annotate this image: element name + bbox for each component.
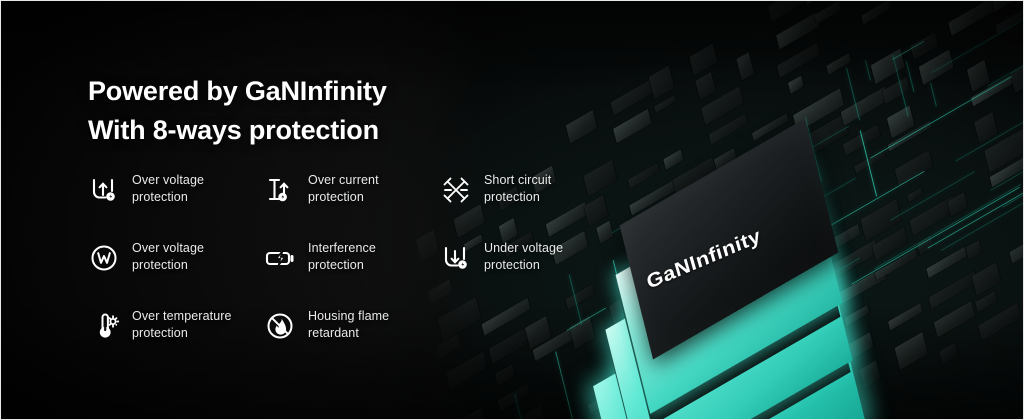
feature-label: Housing flame retardant bbox=[308, 308, 389, 342]
feature-item-over-voltage: Over voltage protection bbox=[88, 172, 264, 240]
heading-line-2: With 8-ways protection bbox=[88, 111, 387, 150]
over-power-icon bbox=[88, 241, 120, 275]
over-temperature-icon bbox=[88, 309, 120, 343]
over-voltage-icon bbox=[88, 173, 120, 207]
feature-item-over-power: Over voltage protection bbox=[88, 240, 264, 308]
gan-protection-banner: GaNInfinity Powered by GaNInfinity With … bbox=[0, 0, 1024, 420]
feature-label: Interference protection bbox=[308, 240, 376, 274]
content-layer: Powered by GaNInfinity With 8-ways prote… bbox=[0, 0, 1024, 420]
feature-label: Short circuit protection bbox=[484, 172, 551, 206]
feature-label: Over voltage protection bbox=[132, 172, 204, 206]
page-title: Powered by GaNInfinity With 8-ways prote… bbox=[88, 72, 387, 150]
feature-item-flame-retardant: Housing flame retardant bbox=[264, 308, 440, 376]
feature-item-over-current: Over current protection bbox=[264, 172, 440, 240]
over-current-icon bbox=[264, 173, 296, 207]
feature-label: Under voltage protection bbox=[484, 240, 563, 274]
feature-item-over-temperature: Over temperature protection bbox=[88, 308, 264, 376]
flame-retardant-icon bbox=[264, 309, 296, 343]
protection-feature-grid: Over voltage protection bbox=[88, 172, 628, 376]
interference-icon bbox=[264, 241, 296, 275]
short-circuit-icon bbox=[440, 173, 472, 207]
feature-label: Over temperature protection bbox=[132, 308, 232, 342]
feature-label: Over current protection bbox=[308, 172, 379, 206]
feature-item-short-circuit: Short circuit protection bbox=[440, 172, 628, 240]
feature-label: Over voltage protection bbox=[132, 240, 204, 274]
feature-item-interference: Interference protection bbox=[264, 240, 440, 308]
under-voltage-icon bbox=[440, 241, 472, 275]
heading-line-1: Powered by GaNInfinity bbox=[88, 72, 387, 111]
feature-item-under-voltage: Under voltage protection bbox=[440, 240, 628, 308]
